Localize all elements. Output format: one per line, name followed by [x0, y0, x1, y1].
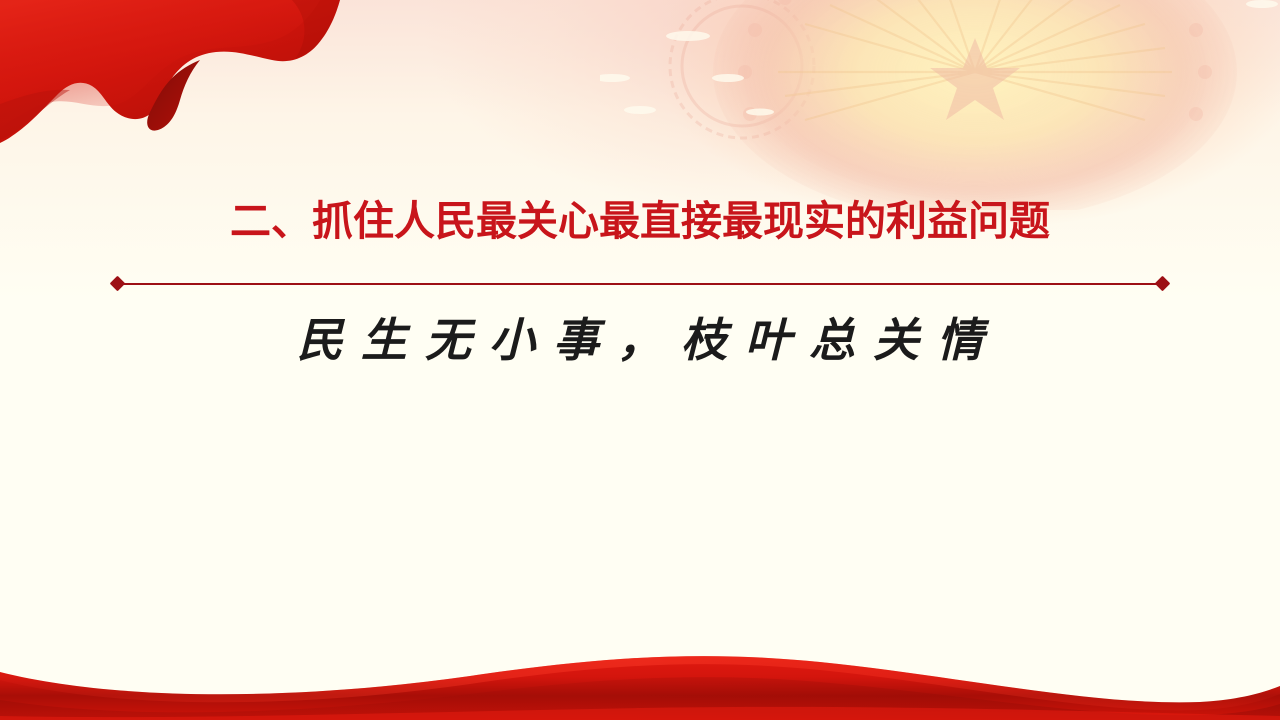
slide-subtitle: 民生无小事，枝叶总关情: [0, 312, 1280, 370]
divider-right-diamond-icon: [1155, 276, 1171, 292]
slide-title: 二、抓住人民最关心最直接最现实的利益问题: [0, 198, 1280, 245]
divider-line: [118, 283, 1162, 285]
presentation-slide: 二、抓住人民最关心最直接最现实的利益问题 民生无小事，枝叶总关情: [0, 0, 1280, 720]
title-divider: [112, 277, 1168, 291]
slide-content: 二、抓住人民最关心最直接最现实的利益问题 民生无小事，枝叶总关情: [0, 0, 1280, 720]
